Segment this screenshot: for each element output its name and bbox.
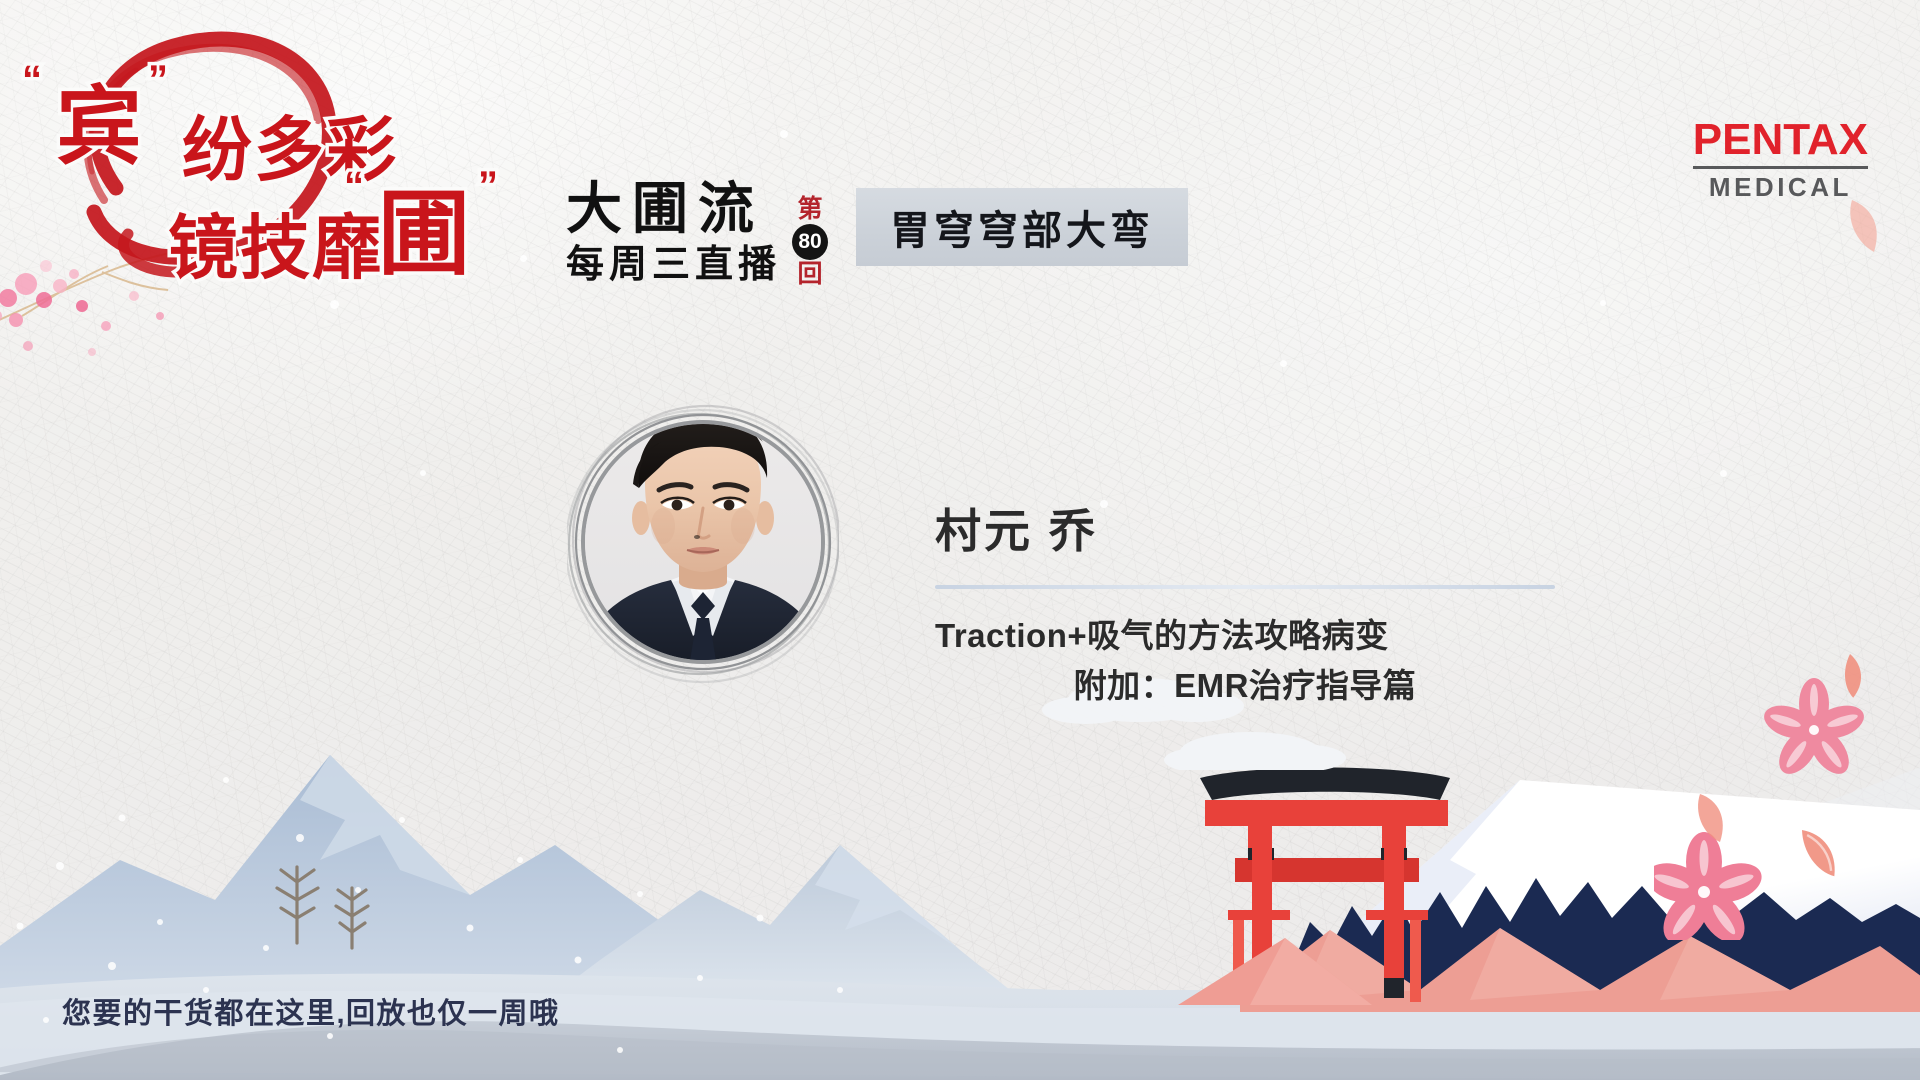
program-logo: “ 宾 ” 纷多彩 镜技靡 “ 圃 ” xyxy=(8,22,568,297)
series-title: 大圃流 xyxy=(566,180,781,238)
speaker-portrait xyxy=(567,392,839,692)
speaker-info: 村元 乔 Traction+吸气的方法攻略病变 附加：EMR治疗指导篇 xyxy=(935,495,1555,711)
lesion-location-banner: 胃穹穹部大弯 xyxy=(856,188,1188,266)
episode-prefix-label: 第 xyxy=(785,197,835,222)
topic-line-2: 附加：EMR治疗指导篇 xyxy=(935,661,1555,711)
sakura-petal-falling-4 xyxy=(1694,790,1748,852)
logo-open-quote-1: “ xyxy=(22,58,44,103)
pentax-subline: MEDICAL xyxy=(1693,173,1868,201)
left-snow-mountains xyxy=(0,755,1010,995)
logo-close-quote-2: ” xyxy=(478,164,500,209)
sakura-petal-falling-1 xyxy=(1836,654,1869,699)
episode-title-block: 大圃流 每周三直播 第 80 回 xyxy=(566,180,835,288)
topic-line-1: Traction+吸气的方法攻略病变 xyxy=(935,611,1555,661)
episode-suffix-label: 回 xyxy=(785,261,835,288)
pentax-divider xyxy=(1693,166,1868,169)
pentax-medical-logo: PENTAX MEDICAL xyxy=(1693,118,1868,201)
sakura-petal-falling-2 xyxy=(1801,825,1837,881)
lesion-location-label: 胃穹穹部大弯 xyxy=(890,198,1154,256)
poster-canvas: “ 宾 ” 纷多彩 镜技靡 “ 圃 ” 大圃流 每周三直播 第 80 回 胃穹穹… xyxy=(0,0,1920,1080)
footer-note: 您要的干货都在这里,回放也仅一周哦 xyxy=(62,990,560,1032)
pentax-wordmark: PENTAX xyxy=(1693,118,1868,162)
logo-line2-quoted: 圃 xyxy=(378,160,472,293)
logo-close-quote-1: ” xyxy=(148,58,170,103)
episode-counter: 第 80 回 xyxy=(785,197,835,288)
sakura-cluster-right xyxy=(1654,640,1914,940)
logo-open-quote-2: “ xyxy=(344,164,366,209)
series-schedule: 每周三直播 xyxy=(566,242,781,288)
sakura-petal-falling-3 xyxy=(1846,196,1906,266)
logo-line1-quoted: 宾 xyxy=(56,56,144,181)
speaker-divider xyxy=(935,585,1555,589)
speaker-name: 村元 乔 xyxy=(935,495,1555,561)
episode-number-badge: 80 xyxy=(792,224,828,260)
